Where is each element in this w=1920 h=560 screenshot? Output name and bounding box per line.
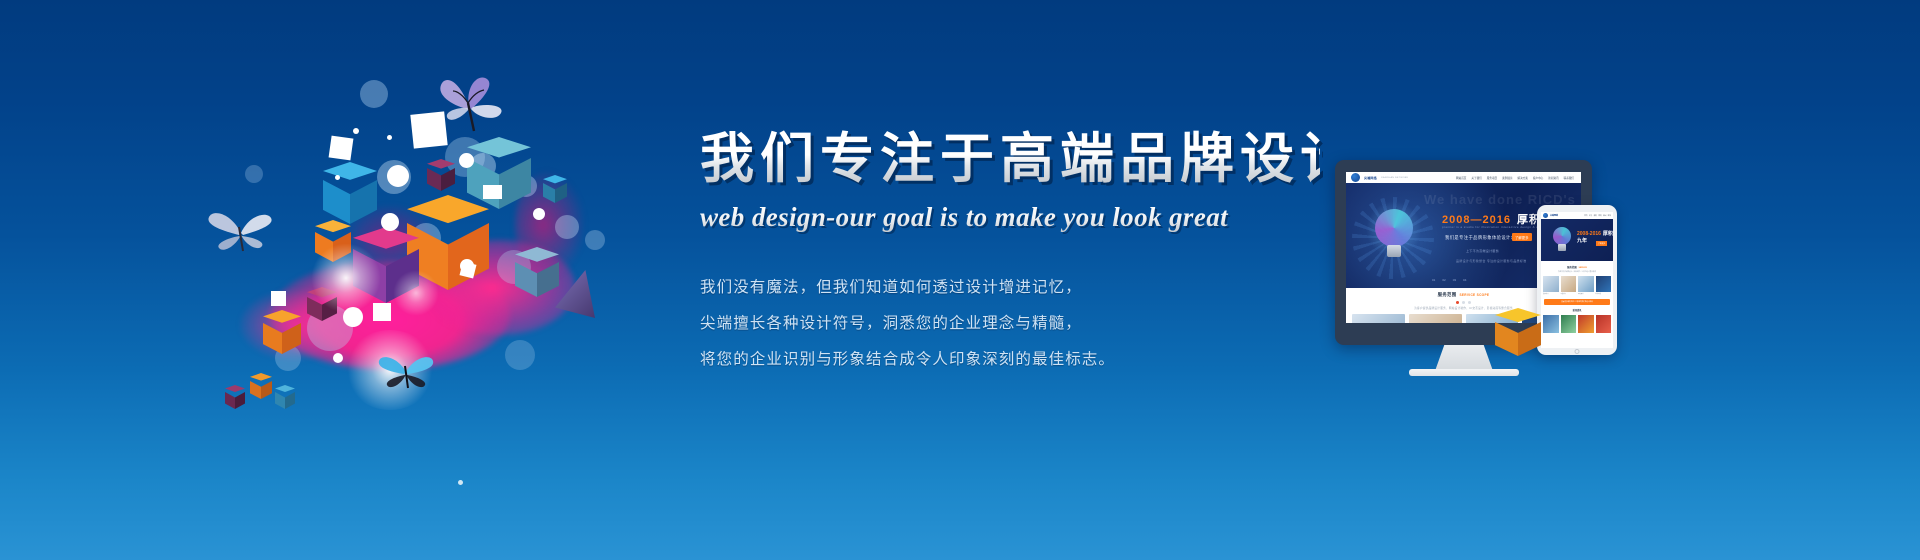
mock-tablet-nav: 首页 关于 服务 案例 新闻 联系 <box>1584 215 1611 217</box>
description-line-2: 尖端擅长各种设计符号，洞悉您的企业理念与精髓， <box>700 311 1320 336</box>
butterfly-blue-icon <box>375 350 437 394</box>
gold-cube-right-face <box>1518 322 1541 356</box>
mock-tablet-nav-item: 服务 <box>1594 215 1597 217</box>
mock-tablet-hero: 2008-2016厚积九年 了解更多 <box>1541 219 1613 261</box>
mock-tablet-caption: 平面设计 <box>1561 293 1577 295</box>
hero-description: 我们没有魔法，但我们知道如何透过设计增进记忆， 尖端擅长各种设计符号，洞悉您的企… <box>700 275 1320 372</box>
mock-nav-item: 案例展示 <box>1502 176 1512 180</box>
mock-section-title-cn: 服务范围 <box>1438 292 1457 297</box>
mock-tablet-years-range: 2008-2016 <box>1577 231 1601 237</box>
tablet-screen: 尖端网络 首页 关于 服务 案例 新闻 联系 <box>1541 212 1613 348</box>
mock-site-header: 尖端网络 JIANDUAN NETWORK 网站首页 关于我们 服务项目 案例展… <box>1346 172 1581 183</box>
page-subtitle: web design-our goal is to make you look … <box>700 202 1320 233</box>
gold-3d-cube <box>1495 308 1541 356</box>
mock-tablet-thumb <box>1543 276 1559 292</box>
mock-hero-chinese: 我们是专注于品牌形象体验设计公司 <box>1445 235 1520 241</box>
mock-tablet-thumb <box>1596 276 1612 292</box>
mock-tablet-section-en: SERVICE <box>1579 267 1587 269</box>
mock-nav-item: 服务项目 <box>1487 176 1497 180</box>
mock-dot-active <box>1456 301 1459 304</box>
device-mockup-group: 尖端网络 JIANDUAN NETWORK 网站首页 关于我们 服务项目 案例展… <box>1325 160 1655 390</box>
mock-tablet-nav-item: 关于 <box>1589 215 1592 217</box>
butterfly-silver-icon <box>205 205 277 259</box>
mock-thumbnail <box>1409 314 1462 323</box>
monitor-stand-neck <box>1435 345 1493 371</box>
mock-tablet-news-thumb <box>1578 315 1594 333</box>
mock-pager-item: 02 <box>1442 278 1445 282</box>
abstract-3d-artwork <box>215 55 635 455</box>
mock-tablet-news-thumb <box>1596 315 1612 333</box>
mock-nav-item: 联系我们 <box>1564 176 1574 180</box>
mock-tablet-nav-item: 联系 <box>1608 215 1611 217</box>
mock-hero-cta-button: 了解更多 <box>1512 233 1532 241</box>
mock-tablet-thumb <box>1578 276 1594 292</box>
hero-banner: 我们专注于高端品牌设计 web design-our goal is to ma… <box>0 0 1920 560</box>
mock-hero-pager: 01 02 03 04 <box>1432 278 1466 282</box>
description-line-1: 我们没有魔法，但我们知道如何透过设计增进记忆， <box>700 275 1320 300</box>
mock-nav-item: 解决方案 <box>1518 176 1528 180</box>
mock-tablet-caption: 影视动画 <box>1596 293 1612 295</box>
mock-tablet-bulb-glass <box>1553 227 1571 245</box>
mock-logo-subtext: JIANDUAN NETWORK <box>1381 177 1409 179</box>
mock-tablet-caption-row: 品牌设计 平面设计 网站建设 影视动画 <box>1541 293 1613 295</box>
mock-tablet-section-title-2: 新闻资讯 <box>1541 308 1613 312</box>
mock-tablet-caption: 网站建设 <box>1578 293 1594 295</box>
mock-tablet-bulb-icon <box>1551 227 1573 253</box>
mock-tablet-news-thumb <box>1543 315 1559 333</box>
butterfly-layer <box>215 55 635 455</box>
mock-tablet-section-desc: 为客户提供品牌设计、网站制作、UI交互设计整合服务 <box>1541 271 1613 273</box>
mock-site-nav: 网站首页 关于我们 服务项目 案例展示 解决方案 客户中心 新闻资讯 联系我们 <box>1456 176 1576 180</box>
gold-cube-left-face <box>1495 322 1518 356</box>
page-title: 我们专注于高端品牌设计 <box>700 128 1320 192</box>
mock-lightbulb-icon <box>1372 209 1416 259</box>
mock-site-logo-icon <box>1351 173 1360 182</box>
description-line-3: 将您的企业识别与形象结合成令人印象深刻的最佳标志。 <box>700 347 1320 372</box>
mock-tablet-logo-icon <box>1543 213 1548 218</box>
mock-nav-item: 网站首页 <box>1456 176 1466 180</box>
mock-thumbnail <box>1352 314 1405 323</box>
mock-pager-item: 03 <box>1453 278 1456 282</box>
mock-nav-item: 新闻资讯 <box>1548 176 1558 180</box>
mock-tablet-section-cn: 服务范围 <box>1567 266 1577 269</box>
mock-tablet-news-thumb <box>1561 315 1577 333</box>
mock-tablet-thumb-row <box>1541 276 1613 292</box>
mock-tablet-nav-item: 首页 <box>1584 215 1587 217</box>
mock-dot <box>1462 301 1465 304</box>
hero-copy: 我们专注于高端品牌设计 web design-our goal is to ma… <box>700 128 1320 383</box>
mock-logo-text: 尖端网络 <box>1364 176 1377 180</box>
mock-tablet-section-title: 服务范围SERVICE <box>1541 265 1613 269</box>
monitor-stand-base <box>1409 369 1519 376</box>
tablet-home-button <box>1575 349 1580 354</box>
mock-tablet-nav-item: 案例 <box>1598 215 1601 217</box>
mock-nav-item: 关于我们 <box>1471 176 1481 180</box>
butterfly-purple-icon <box>435 73 507 135</box>
mock-tablet-news-row <box>1541 315 1613 333</box>
mock-bulb-glass <box>1375 209 1413 247</box>
mock-tablet-cta: 了解更多 <box>1596 241 1607 246</box>
mock-dot <box>1468 301 1471 304</box>
mock-pager-item: 04 <box>1463 278 1466 282</box>
mock-tablet-cta-bar: 查看更多服务项目 / 立即咨询我们的设计顾问 <box>1544 299 1610 305</box>
mock-tablet-thumb <box>1561 276 1577 292</box>
mock-nav-item: 客户中心 <box>1533 176 1543 180</box>
mock-hero-meta-2: 品牌设计与形象整合 专注的设计服务与品质标准 <box>1456 259 1526 263</box>
mock-tablet-nav-item: 新闻 <box>1603 215 1606 217</box>
mock-tablet-bulb-base <box>1558 244 1566 251</box>
mock-tablet-caption: 品牌设计 <box>1543 293 1559 295</box>
mock-tablet-years: 2008-2016厚积九年 <box>1577 230 1613 244</box>
mock-tablet-header: 尖端网络 首页 关于 服务 案例 新闻 联系 <box>1541 212 1613 219</box>
white-dot <box>458 480 463 485</box>
mock-tablet-logo-text: 尖端网络 <box>1550 214 1558 217</box>
mock-hero-meta-1: 上下不为高端设计服务 <box>1466 249 1499 253</box>
tablet-mockup: 尖端网络 首页 关于 服务 案例 新闻 联系 <box>1537 205 1617 355</box>
mock-section-title-en: SERVICE SCOPE <box>1459 293 1489 297</box>
mock-pager-item: 01 <box>1432 278 1435 282</box>
mock-bulb-base <box>1387 245 1401 257</box>
